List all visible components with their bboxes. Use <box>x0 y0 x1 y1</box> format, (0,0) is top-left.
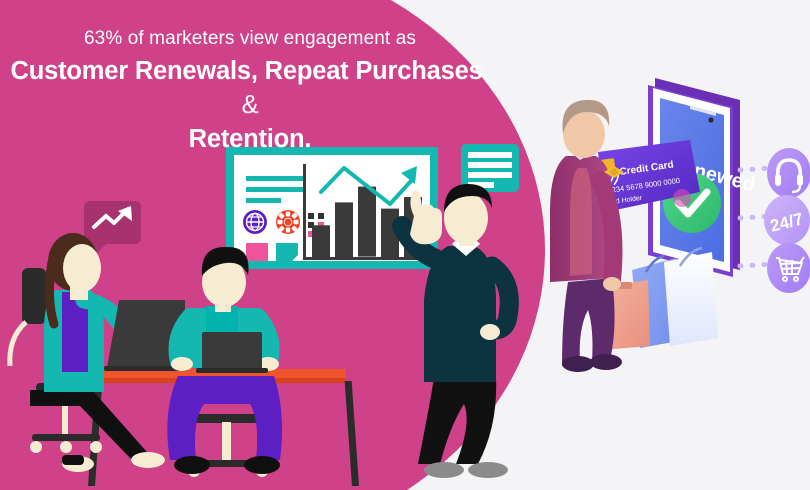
globe-icon <box>243 210 267 234</box>
headline-subtitle-text: 63% of marketers view engagement as <box>84 28 416 49</box>
chart-x-axis <box>303 257 417 260</box>
swatch-teal <box>276 243 298 261</box>
chart-bar <box>312 225 330 257</box>
board-text-line <box>246 187 304 192</box>
infographic-canvas: Renewed Credit Card 1234 5678 9000 0000 … <box>0 0 810 490</box>
board-text-line <box>246 176 304 181</box>
laptop-right <box>196 332 268 373</box>
swatch-pink <box>246 243 268 261</box>
headline-line3: Retention. <box>189 125 312 153</box>
badge-24-7[interactable]: 24/7 <box>764 195 810 245</box>
headline-subtitle: 63% of marketers view engagement as <box>0 26 500 52</box>
headline-bold-part: Customer Renewals, Repeat Purchases <box>11 57 483 85</box>
board-text-line <box>246 198 281 203</box>
presentation-board <box>223 144 441 272</box>
badge-cart[interactable] <box>767 243 810 293</box>
badge-support[interactable] <box>767 148 810 198</box>
page-title: Customer Renewals, Repeat Purchases, & R… <box>0 54 500 156</box>
chart-bar <box>335 202 353 257</box>
chart-y-axis <box>303 164 306 260</box>
chart-bar <box>358 187 376 257</box>
gear-icon <box>276 210 300 234</box>
shopping-bag-white <box>664 252 718 346</box>
